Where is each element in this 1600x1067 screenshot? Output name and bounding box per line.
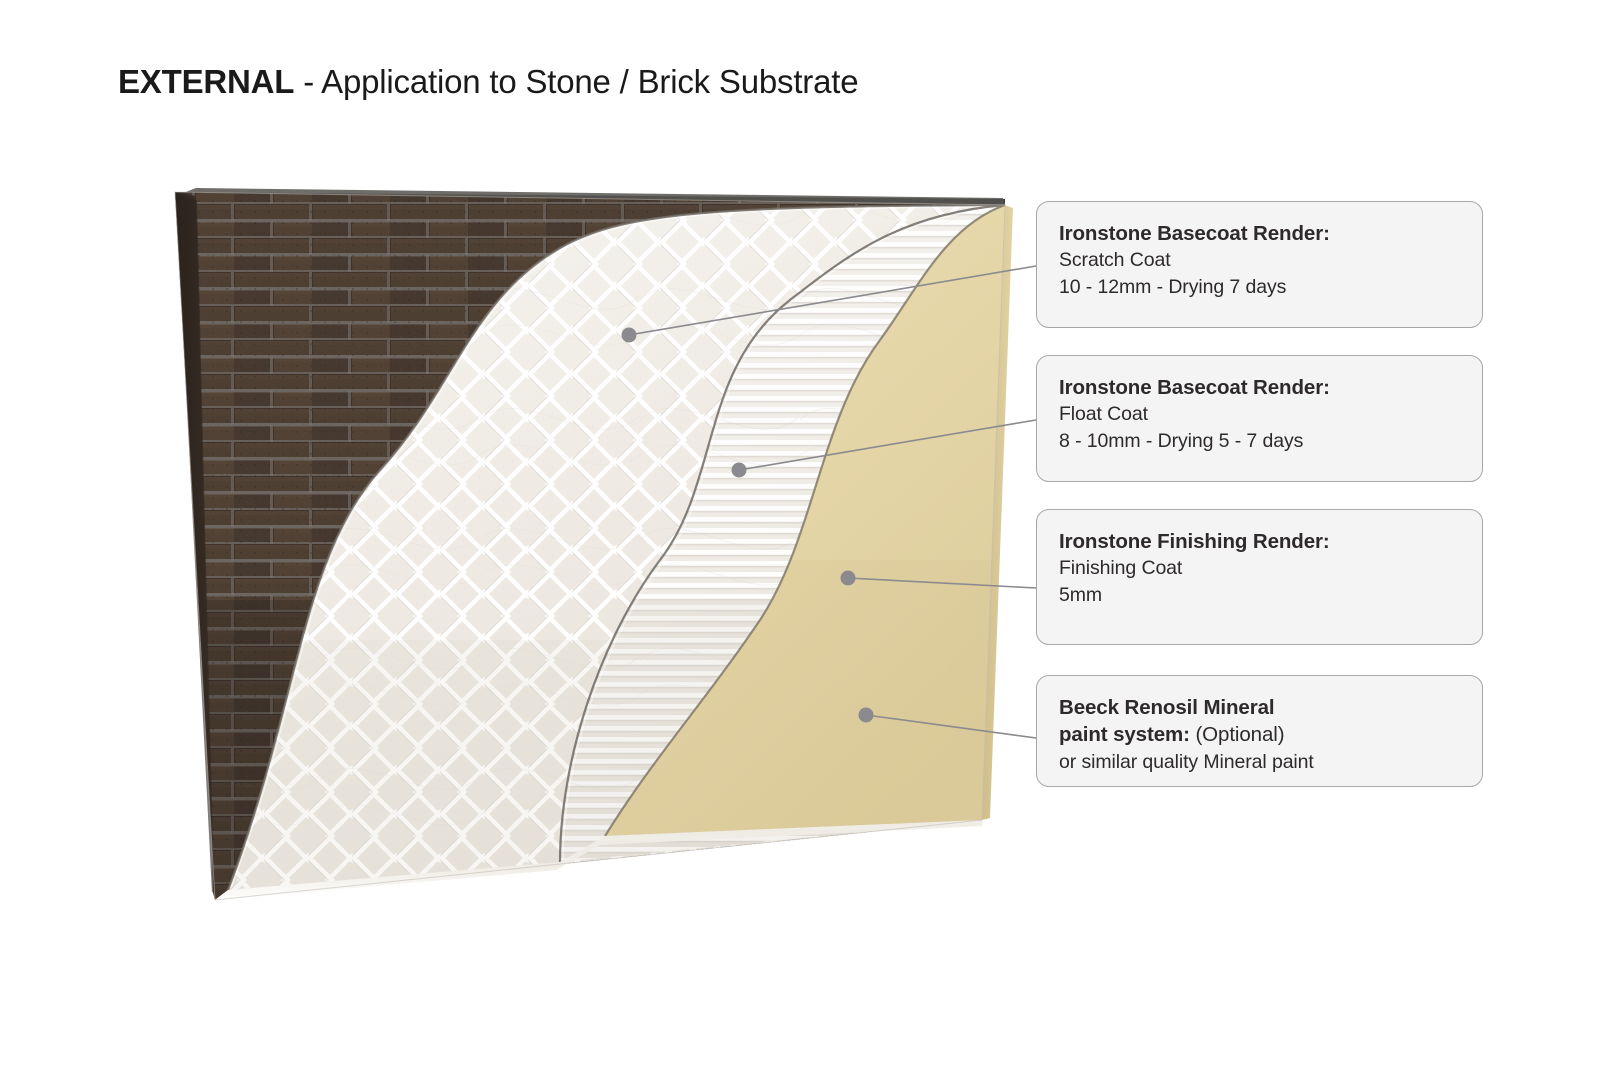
- callout-line-1: Finishing Coat: [1059, 555, 1460, 582]
- callout-card-mineral-paint[interactable]: Beeck Renosil Mineral paint system: (Opt…: [1036, 675, 1483, 787]
- callout-line-2: 10 - 12mm - Drying 7 days: [1059, 274, 1460, 301]
- callout-heading-strong: paint system:: [1059, 723, 1190, 746]
- callout-card-scratch-coat[interactable]: Ironstone Basecoat Render: Scratch Coat …: [1036, 201, 1483, 328]
- callout-heading: Ironstone Basecoat Render:: [1059, 374, 1460, 401]
- callout-card-finishing-coat[interactable]: Ironstone Finishing Render: Finishing Co…: [1036, 509, 1483, 645]
- wall-illustration: [0, 0, 1060, 960]
- callout-heading-line-2: paint system: (Optional): [1059, 721, 1460, 748]
- callout-line-1: Float Coat: [1059, 401, 1460, 428]
- callout-line-2: 5mm: [1059, 582, 1460, 609]
- callout-heading-line-1: Beeck Renosil Mineral: [1059, 694, 1460, 721]
- callout-line-1: or similar quality Mineral paint: [1059, 749, 1460, 776]
- callout-heading: Ironstone Basecoat Render:: [1059, 220, 1460, 247]
- callout-card-float-coat[interactable]: Ironstone Basecoat Render: Float Coat 8 …: [1036, 355, 1483, 482]
- callout-line-1: Scratch Coat: [1059, 247, 1460, 274]
- callout-line-2: 8 - 10mm - Drying 5 - 7 days: [1059, 428, 1460, 455]
- callout-heading: Ironstone Finishing Render:: [1059, 528, 1460, 555]
- diagram-page: EXTERNAL - Application to Stone / Brick …: [0, 0, 1600, 1067]
- callout-optional-tag: (Optional): [1190, 723, 1285, 746]
